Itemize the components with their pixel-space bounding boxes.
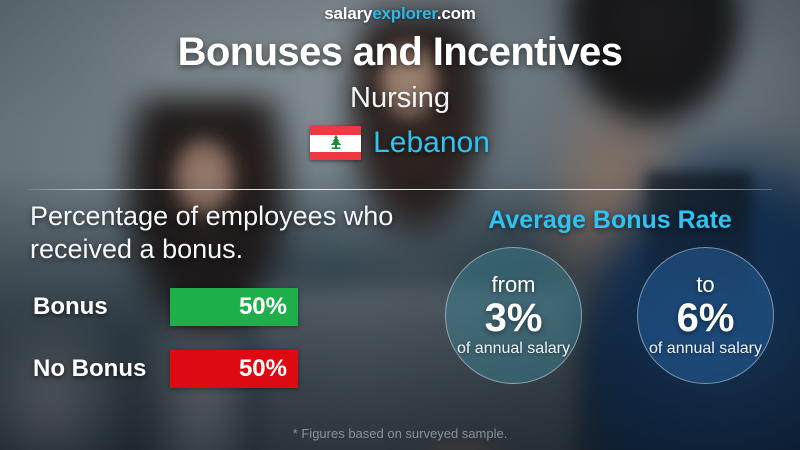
bonus-percentage-caption: Percentage of employees who received a b… (30, 200, 440, 266)
country-row: Lebanon (0, 126, 800, 160)
bar-value-no-bonus: 50% (239, 355, 287, 383)
flag-stripe-top (310, 126, 361, 135)
lebanon-flag-icon (310, 126, 361, 160)
bonus-bar-chart: Bonus 50% No Bonus 50% (30, 288, 310, 412)
bar-label-no-bonus: No Bonus (33, 355, 146, 383)
bar-fill-no-bonus: 50% (170, 350, 298, 388)
bubble-from-sublabel: of annual salary (457, 341, 570, 357)
flag-stripe-bottom (310, 152, 361, 161)
page-subtitle: Nursing (0, 82, 800, 115)
bubble-to-prefix: to (696, 274, 714, 296)
country-name: Lebanon (373, 126, 490, 160)
site-logo[interactable]: salaryexplorer.com (0, 4, 800, 24)
average-bonus-rate-title: Average Bonus Rate (440, 206, 780, 235)
bar-label-bonus: Bonus (33, 293, 108, 321)
bubble-to-sublabel: of annual salary (649, 341, 762, 357)
footnote: * Figures based on surveyed sample. (0, 426, 800, 441)
logo-text-salary: salary (324, 4, 372, 23)
bonus-rate-bubbles: from 3% of annual salary to 6% of annual… (440, 247, 780, 387)
logo-text-tld: .com (437, 4, 476, 23)
page-title: Bonuses and Incentives (0, 30, 800, 75)
bubble-to-value: 6% (677, 298, 735, 339)
bubble-from-prefix: from (492, 274, 536, 296)
bar-row-no-bonus: No Bonus 50% (30, 350, 310, 388)
bar-row-bonus: Bonus 50% (30, 288, 310, 326)
logo-text-explorer: explorer (372, 4, 437, 23)
bubble-from-value: 3% (485, 298, 543, 339)
bar-value-bonus: 50% (239, 293, 287, 321)
bar-fill-bonus: 50% (170, 288, 298, 326)
cedar-tree-icon (325, 135, 347, 152)
bubble-from: from 3% of annual salary (445, 247, 582, 384)
section-divider (28, 189, 772, 190)
bubble-to: to 6% of annual salary (637, 247, 774, 384)
